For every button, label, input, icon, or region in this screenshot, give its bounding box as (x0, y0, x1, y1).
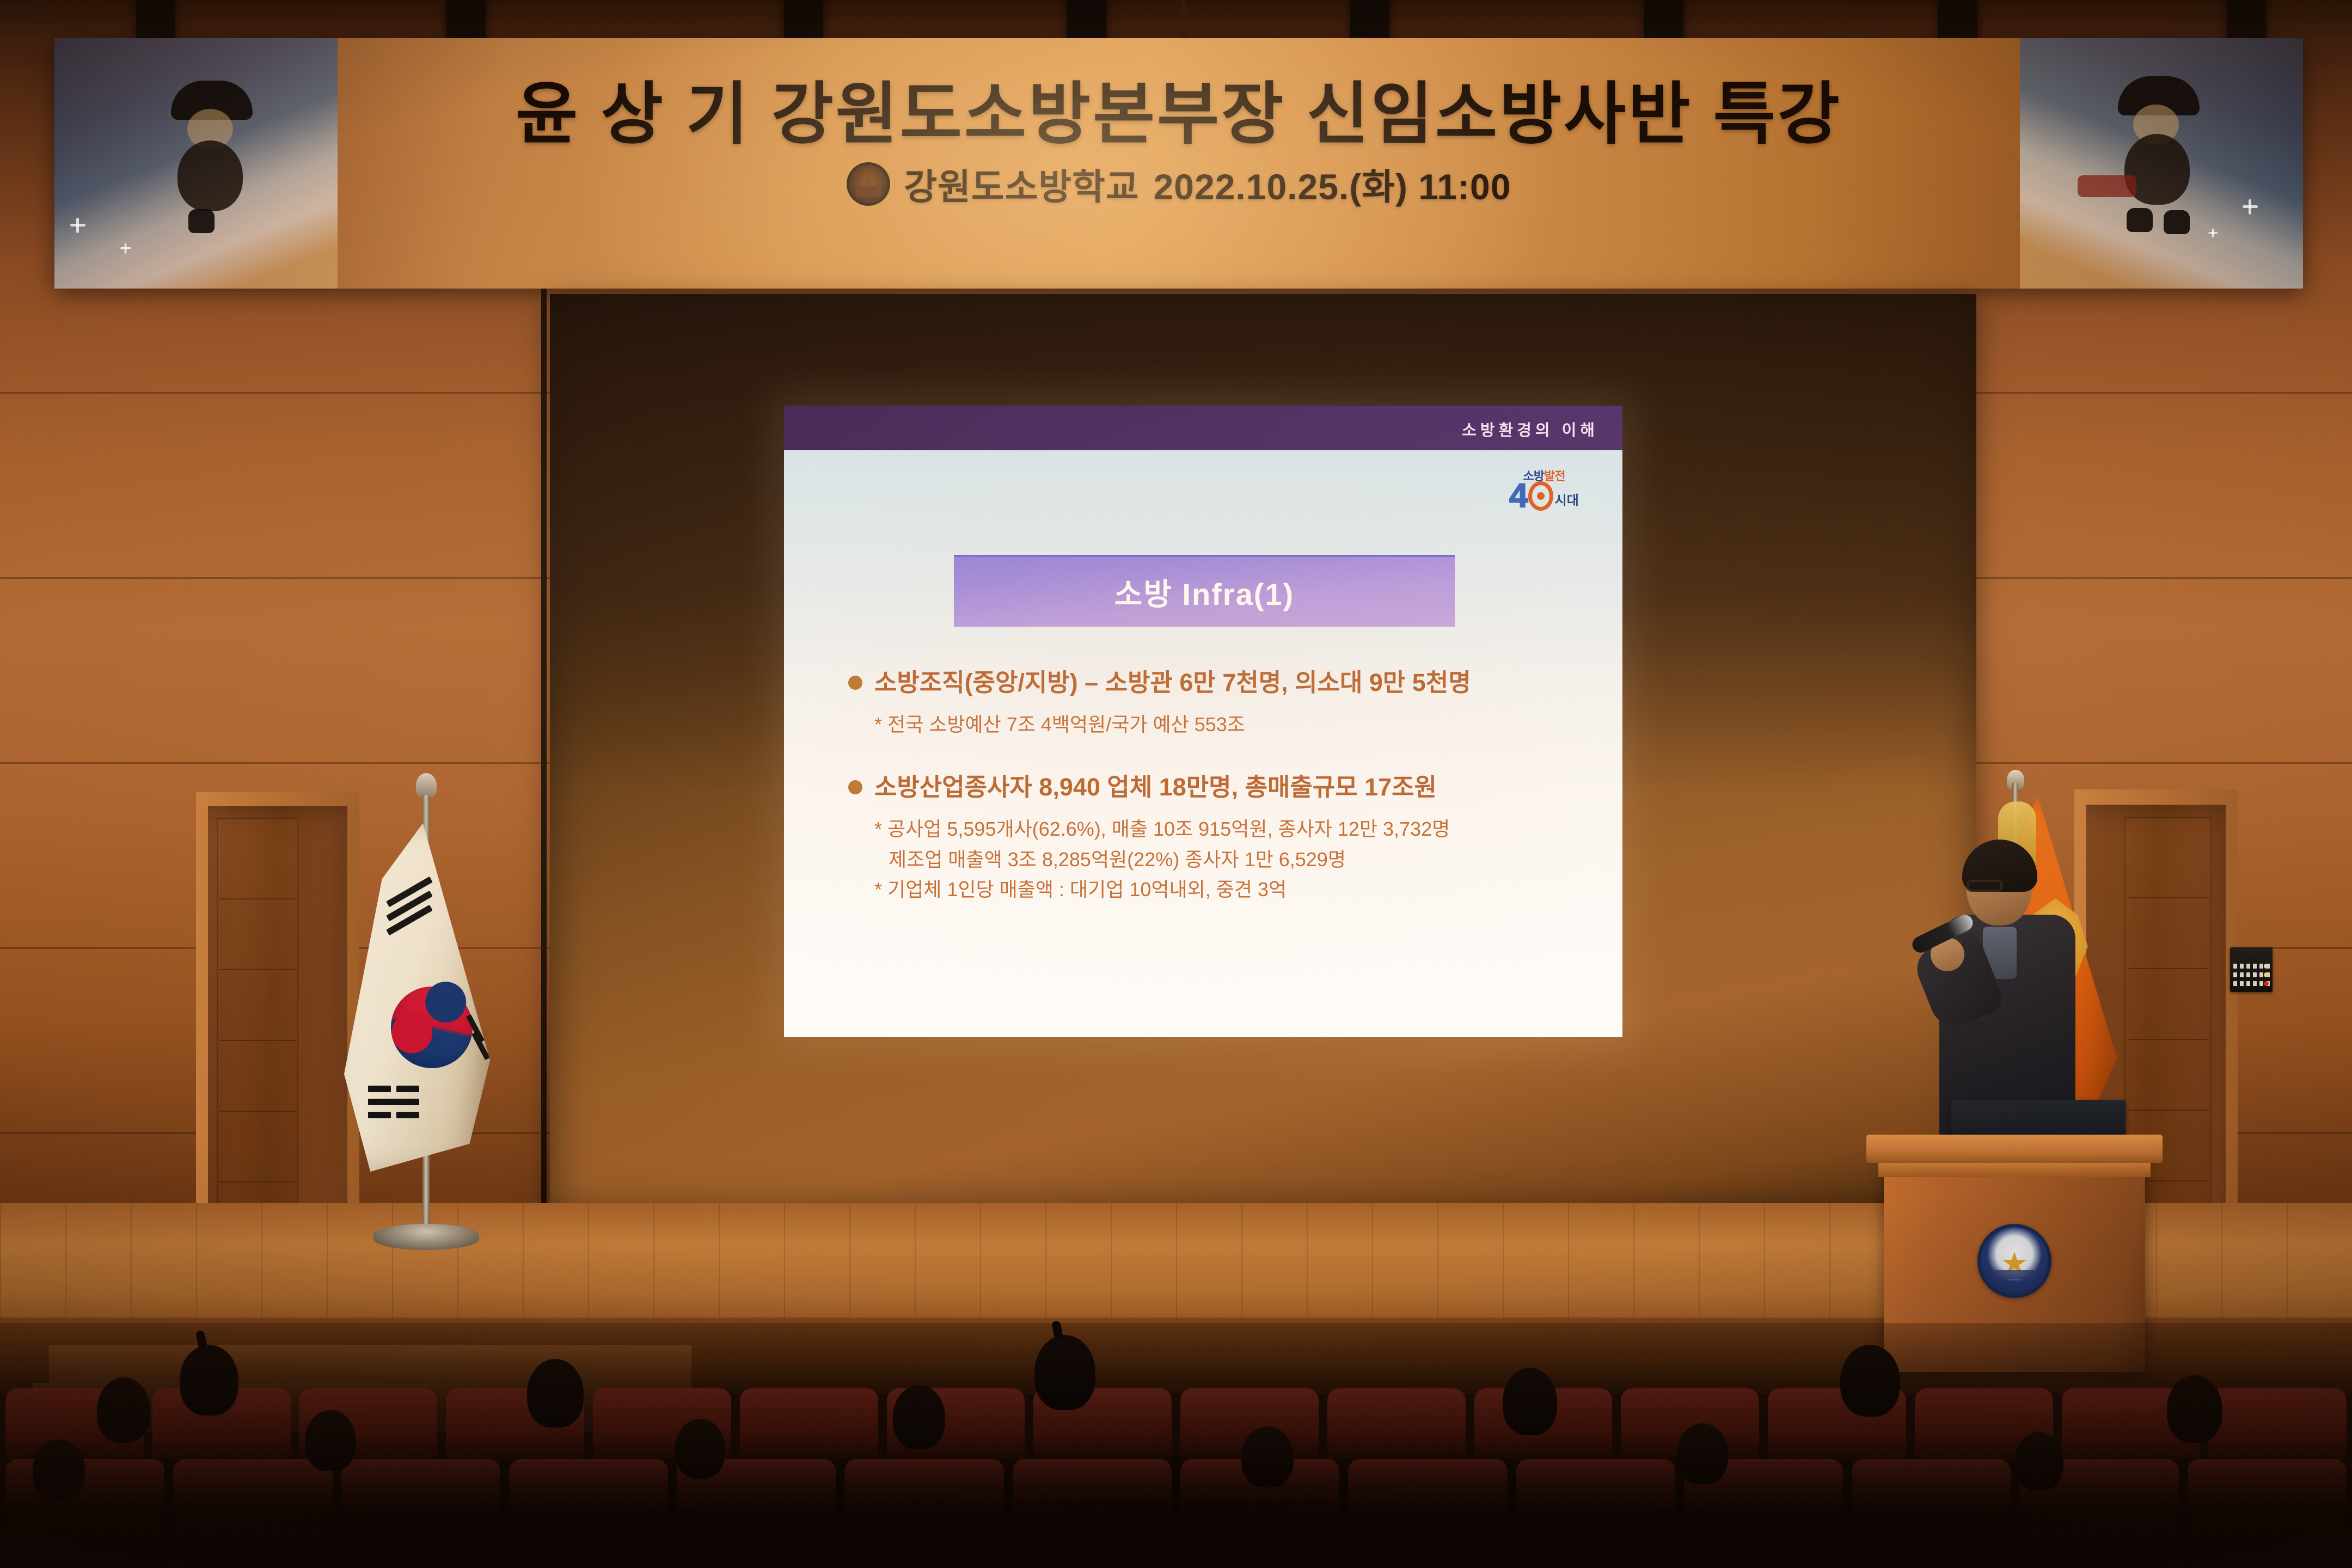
banner-datetime: 2022.10.25.(화) 11:00 (1154, 158, 1511, 210)
bullet-group: 소방산업종사자 8,940 업체 18만명, 총매출규모 17조원 * 공사업 … (848, 773, 1590, 905)
logo-number-4: 4 (1509, 482, 1526, 511)
korean-national-flag-icon (327, 773, 544, 1279)
bullet-dot-icon (848, 676, 862, 690)
audience-head (2167, 1375, 2222, 1443)
slide-title: 소방 Infra(1) (1114, 570, 1294, 614)
audience-head (1034, 1335, 1095, 1410)
podium-area (1862, 773, 2243, 1361)
banner-organization: 강원도소방학교 (904, 158, 1140, 210)
bottom-vignette (0, 1437, 2352, 1568)
bullet-main-text: 소방산업종사자 8,940 업체 18만명, 총매출규모 17조원 (874, 773, 1437, 802)
slide-header: 소방환경의 이해 (784, 406, 1622, 450)
bullet-main-text: 소방조직(중앙/지방) – 소방관 6만 7천명, 의소대 9만 5천명 (874, 668, 1471, 697)
logo-zero-ring-icon (1528, 481, 1553, 511)
slide-bullet-list: 소방조직(중앙/지방) – 소방관 6만 7천명, 의소대 9만 5천명 * 전… (848, 668, 1590, 938)
logo-suffix: 시대 (1555, 489, 1579, 509)
lecture-hall-scene: 윤 상 기 강원도소방본부장 신임소방사반 특강 강원도소방학교 2022.10… (0, 0, 2352, 1568)
bullet-sub-text: * 공사업 5,595개사(62.6%), 매출 10조 915억원, 종사자 … (874, 814, 1590, 844)
fire-development-40-logo-icon: 소방발전 4 시대 (1491, 462, 1597, 519)
panel-indicator-led (2264, 964, 2269, 969)
audience-head (1840, 1345, 1900, 1417)
bullet-dot-icon (848, 780, 862, 794)
bullet-group: 소방조직(중앙/지방) – 소방관 6만 7천명, 의소대 9만 5천명 * 전… (848, 668, 1590, 740)
panel-indicator-led (2264, 972, 2269, 977)
panel-indicator-led (2264, 981, 2269, 986)
banner-subtitle-row: 강원도소방학교 2022.10.25.(화) 11:00 (54, 158, 2303, 210)
slide-body: 소방발전 4 시대 소방 Infra(1) 소방조직(중앙/지방) – 소방관 … (784, 450, 1622, 1037)
event-banner: 윤 상 기 강원도소방본부장 신임소방사반 특강 강원도소방학교 2022.10… (54, 38, 2303, 289)
slide-title-box: 소방 Infra(1) (954, 555, 1455, 627)
audience-head (1503, 1368, 1557, 1435)
bullet-sub-text: 제조업 매출액 3조 8,285억원(22%) 종사자 1만 6,529명 (889, 844, 1590, 875)
presentation-slide: 소방환경의 이해 01 소방발전 4 시대 소방 Infra(1) (784, 406, 1622, 1037)
slide-header-title: 소방환경의 이해 (1462, 418, 1598, 440)
banner-title: 윤 상 기 강원도소방본부장 신임소방사반 특강 (54, 59, 2303, 157)
audience-head (527, 1359, 584, 1428)
fire-service-emblem-icon (847, 162, 890, 206)
bullet-sub-text: * 전국 소방예산 7조 4백억원/국가 예산 553조 (874, 709, 1590, 740)
bullet-sub-text: * 기업체 1인당 매출액 : 대기업 10억내외, 중견 3억 (874, 874, 1590, 905)
audience-head (180, 1345, 238, 1416)
gangwon-fire-school-emblem-icon (1977, 1224, 2051, 1298)
audience-head (97, 1377, 150, 1443)
